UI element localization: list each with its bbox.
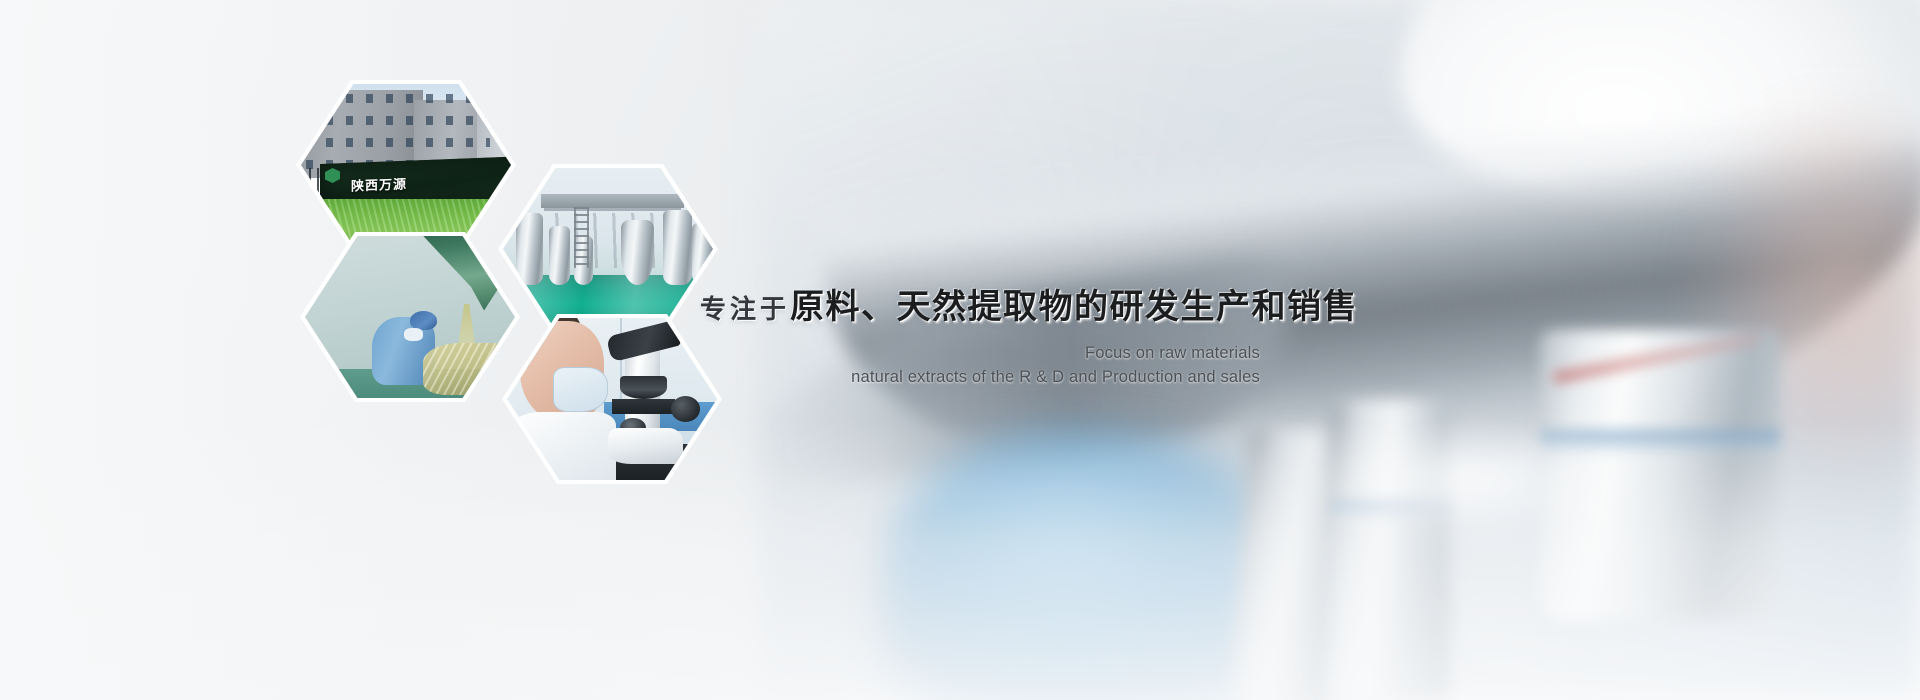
specular-highlight (1300, 420, 1630, 540)
workshop-ladder (574, 207, 589, 269)
headline-lead: 专注于 (700, 295, 790, 325)
bottom-fade-overlay (0, 420, 1920, 700)
extraction-tank (549, 226, 570, 284)
worker-cap (410, 311, 437, 330)
hexagon-photo-extraction-workshop[interactable] (503, 168, 713, 330)
microscope-stage (612, 399, 675, 414)
factory-photo-inner: 陕西万源 (301, 84, 511, 246)
microscope-base (608, 428, 684, 464)
microscope-focus-knob (671, 396, 700, 422)
worker-face-mask (404, 328, 423, 341)
objective-lens-red-band (1553, 332, 1761, 384)
extraction-tank (516, 213, 543, 284)
banner-copy: 专注于原料、天然提取物的研发生产和销售 Focus on raw materia… (700, 288, 1260, 387)
extraction-tank (621, 220, 655, 285)
objective-lens-mid-ring (1330, 500, 1450, 518)
objective-lens-right-ring (1540, 430, 1780, 452)
microscope-nosepiece (620, 376, 666, 399)
blue-glove-blur (880, 430, 1300, 700)
hexagon-photo-production-bagging[interactable] (305, 236, 515, 398)
blue-glove-secondary-blur (1150, 520, 1450, 700)
microscope-photo-inner (507, 318, 717, 480)
objective-lens-mid-blur (1330, 400, 1450, 700)
objective-lens-right-blur (1540, 330, 1780, 620)
banner-subtitle-line-2: natural extracts of the R & D and Produc… (700, 368, 1260, 387)
hexagon-photo-lab-microscope[interactable] (507, 318, 717, 480)
product-bags (423, 343, 515, 395)
banner-headline: 专注于原料、天然提取物的研发生产和销售 (700, 288, 1260, 326)
headline-main: 原料、天然提取物的研发生产和销售 (790, 287, 1358, 327)
extraction-tank (663, 210, 692, 285)
hand-skin-tone-blur (1690, 110, 1920, 530)
factory-sign-text: 陕西万源 (351, 162, 485, 203)
banner-subtitle-line-1: Focus on raw materials (700, 344, 1260, 363)
tanks-photo-inner (503, 168, 713, 330)
hero-banner: 陕西万源 (0, 0, 1920, 700)
workshop-gantry (541, 194, 684, 209)
technician-face-mask (553, 367, 608, 412)
hexagon-photo-cluster: 陕西万源 (296, 80, 716, 460)
hexagon-photo-factory[interactable]: 陕西万源 (301, 84, 511, 246)
worker-photo-inner (305, 236, 515, 398)
technician-lab-coat (507, 412, 616, 480)
microscope-eyepiece-blur (1400, 0, 1920, 210)
objective-lens-left-blur (1230, 427, 1349, 700)
